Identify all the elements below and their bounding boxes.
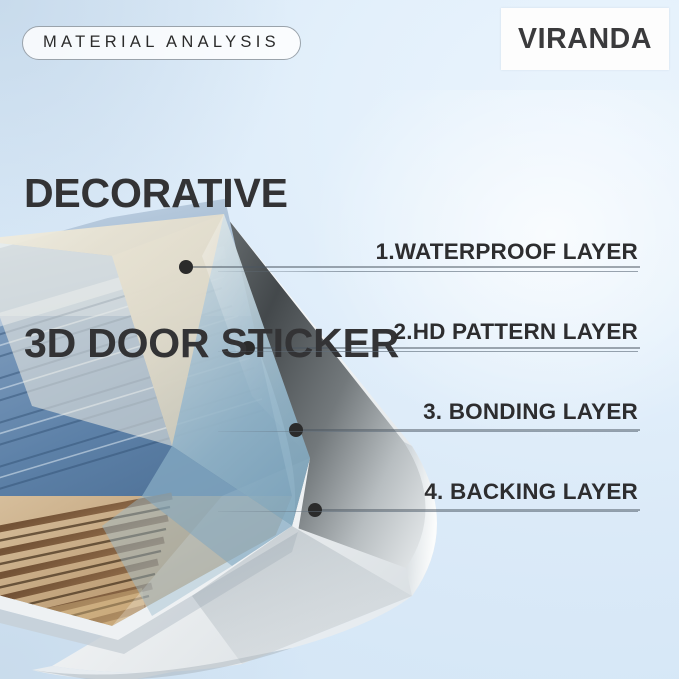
callout-rule-3 — [218, 431, 638, 432]
callout-backing-layer: 4. BACKING LAYER — [218, 480, 638, 512]
material-analysis-badge: MATERIAL ANALYSIS — [22, 26, 301, 60]
callout-rule-2 — [218, 351, 638, 352]
infographic-page: MATERIAL ANALYSIS DECORATIVE 3D DOOR STI… — [0, 0, 679, 679]
brand-logo: VIRANDA — [501, 8, 669, 70]
brand-logo-text: VIRANDA — [518, 23, 652, 56]
callout-waterproof-layer: 1.WATERPROOF LAYER — [218, 240, 638, 272]
callout-rule-1 — [218, 271, 638, 272]
callout-hd-pattern-layer: 2.HD PATTERN LAYER — [218, 320, 638, 352]
callout-label-2: 2.HD PATTERN LAYER — [218, 320, 638, 345]
page-title-line-1: DECORATIVE — [24, 168, 399, 218]
callout-label-3: 3. BONDING LAYER — [218, 400, 638, 425]
callout-label-4: 4. BACKING LAYER — [218, 480, 638, 505]
callout-label-1: 1.WATERPROOF LAYER — [218, 240, 638, 265]
callout-rule-4 — [218, 511, 638, 512]
callout-bonding-layer: 3. BONDING LAYER — [218, 400, 638, 432]
